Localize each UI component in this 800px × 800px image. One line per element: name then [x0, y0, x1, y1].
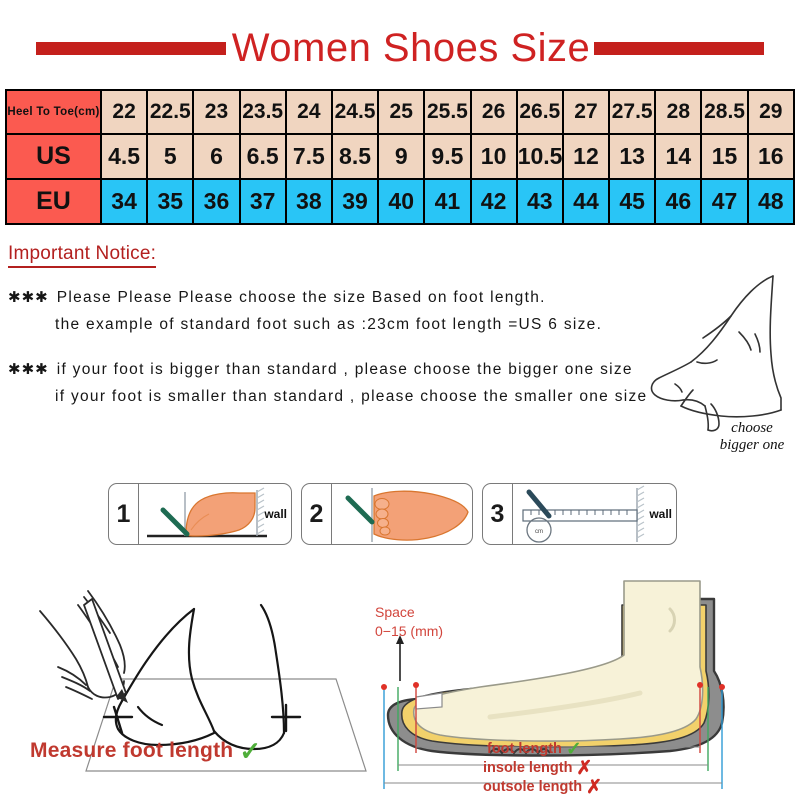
- notice-line-3: ✱✱✱if your foot is bigger than standard …: [8, 356, 708, 383]
- size-chart-table: Heel To Toe(cm) 22 22.5 23 23.5 24 24.5 …: [5, 89, 795, 225]
- table-row-us: US 4.5 5 6 6.5 7.5 8.5 9 9.5 10 10.5 12 …: [6, 134, 794, 179]
- cell-us-2: 6: [193, 134, 239, 179]
- cell-heel-9: 26.5: [517, 90, 563, 134]
- space-label-line1: Space: [375, 603, 443, 622]
- cell-eu-4: 38: [286, 179, 332, 224]
- notice-text-3: if your foot is bigger than standard , p…: [57, 361, 633, 378]
- cell-heel-7: 25.5: [424, 90, 470, 134]
- cell-eu-12: 46: [655, 179, 701, 224]
- cell-us-4: 7.5: [286, 134, 332, 179]
- table-row-heel-to-toe: Heel To Toe(cm) 22 22.5 23 23.5 24 24.5 …: [6, 90, 794, 134]
- cell-us-5: 8.5: [332, 134, 378, 179]
- check-icon: ✓: [239, 738, 261, 764]
- title-rule-left: [36, 42, 226, 55]
- cell-us-8: 10: [471, 134, 517, 179]
- measurement-steps: 1 wall: [108, 483, 677, 545]
- cell-eu-7: 41: [424, 179, 470, 224]
- cell-us-1: 5: [147, 134, 193, 179]
- asterisk-icon-2: ✱✱✱: [8, 361, 49, 378]
- legend-foot-length: foot length ✓: [483, 740, 602, 759]
- foot-top-view-icon: [332, 484, 472, 545]
- cell-eu-2: 36: [193, 179, 239, 224]
- cell-eu-11: 45: [609, 179, 655, 224]
- legend-outsole-length-text: outsole length: [483, 778, 582, 797]
- notice-line-2: the example of standard foot such as :23…: [8, 311, 708, 338]
- legend-outsole-length: outsole length ✗: [483, 778, 602, 797]
- choose-bigger-line1: choose: [697, 420, 800, 437]
- foot-profile-sketch-icon: [645, 258, 795, 438]
- cell-us-9: 10.5: [517, 134, 563, 179]
- cell-eu-3: 37: [240, 179, 286, 224]
- step-1-illustration: wall: [139, 484, 291, 544]
- notice-line-1: ✱✱✱Please Please Please choose the size …: [8, 284, 708, 311]
- cell-us-10: 12: [563, 134, 609, 179]
- cell-us-0: 4.5: [101, 134, 147, 179]
- cell-heel-2: 23: [193, 90, 239, 134]
- notice-line-4: if your foot is smaller than standard , …: [8, 383, 708, 410]
- cell-eu-0: 34: [101, 179, 147, 224]
- legend-insole-length-text: insole length: [483, 759, 572, 778]
- cell-heel-8: 26: [471, 90, 517, 134]
- choose-bigger-caption: choose bigger one: [697, 420, 800, 454]
- cell-heel-12: 28: [655, 90, 701, 134]
- space-annotation: Space 0−15 (mm): [375, 603, 443, 641]
- row-label-us: US: [6, 134, 101, 179]
- cell-heel-4: 24: [286, 90, 332, 134]
- cell-heel-6: 25: [378, 90, 424, 134]
- cell-eu-14: 48: [748, 179, 794, 224]
- important-notice-section: Important Notice: ✱✱✱Please Please Pleas…: [8, 243, 708, 410]
- asterisk-icon: ✱✱✱: [8, 289, 49, 306]
- title-rule-right: [594, 42, 764, 55]
- cell-heel-11: 27.5: [609, 90, 655, 134]
- step-panel-3: 3: [482, 483, 677, 545]
- step-panel-1: 1 wall: [108, 483, 292, 545]
- table-row-eu: EU 34 35 36 37 38 39 40 41 42 43 44 45 4…: [6, 179, 794, 224]
- cell-eu-13: 47: [701, 179, 747, 224]
- check-icon-foot: ✓: [566, 740, 582, 759]
- legend-foot-length-text: foot length: [487, 740, 562, 759]
- step-3-illustration: cm wall: [513, 484, 676, 544]
- cross-icon-outsole: ✗: [586, 778, 602, 797]
- row-label-eu: EU: [6, 179, 101, 224]
- cross-icon-insole: ✗: [576, 759, 592, 778]
- step-number-3: 3: [483, 484, 513, 544]
- cell-heel-0: 22: [101, 90, 147, 134]
- notice-text-1: Please Please Please choose the size Bas…: [57, 289, 546, 306]
- row-label-heel-to-toe: Heel To Toe(cm): [6, 90, 101, 134]
- notice-heading: Important Notice:: [8, 243, 156, 268]
- space-label-line2: 0−15 (mm): [375, 622, 443, 641]
- cell-eu-5: 39: [332, 179, 378, 224]
- cell-us-6: 9: [378, 134, 424, 179]
- cell-us-12: 14: [655, 134, 701, 179]
- page-title: Women Shoes Size: [232, 26, 591, 71]
- legend-insole-length: insole length ✗: [483, 759, 602, 778]
- cell-heel-3: 23.5: [240, 90, 286, 134]
- page-title-bar: Women Shoes Size: [0, 18, 800, 78]
- cell-eu-9: 43: [517, 179, 563, 224]
- wall-label-3: wall: [649, 507, 672, 521]
- cell-eu-1: 35: [147, 179, 193, 224]
- cell-us-14: 16: [748, 134, 794, 179]
- cell-eu-10: 44: [563, 179, 609, 224]
- step-panel-2: 2: [301, 483, 473, 545]
- cell-us-7: 9.5: [424, 134, 470, 179]
- cell-us-13: 15: [701, 134, 747, 179]
- cell-us-3: 6.5: [240, 134, 286, 179]
- cell-us-11: 13: [609, 134, 655, 179]
- cell-eu-8: 42: [471, 179, 517, 224]
- size-chart-body: Heel To Toe(cm) 22 22.5 23 23.5 24 24.5 …: [6, 90, 794, 224]
- notice-block-1: ✱✱✱Please Please Please choose the size …: [8, 284, 708, 338]
- cell-heel-5: 24.5: [332, 90, 378, 134]
- length-legend: foot length ✓ insole length ✗ outsole le…: [483, 740, 602, 797]
- ruler-badge-text: cm: [535, 529, 543, 535]
- choose-bigger-line2: bigger one: [697, 437, 800, 454]
- cell-heel-1: 22.5: [147, 90, 193, 134]
- measure-foot-length-text: Measure foot length: [30, 739, 233, 763]
- cell-heel-10: 27: [563, 90, 609, 134]
- measure-foot-length-label: Measure foot length ✓: [30, 738, 261, 764]
- cell-heel-13: 28.5: [701, 90, 747, 134]
- step-number-1: 1: [109, 484, 139, 544]
- step-number-2: 2: [302, 484, 332, 544]
- cell-eu-6: 40: [378, 179, 424, 224]
- wall-label-1: wall: [264, 507, 287, 521]
- cell-heel-14: 29: [748, 90, 794, 134]
- step-2-illustration: [332, 484, 472, 544]
- notice-block-2: ✱✱✱if your foot is bigger than standard …: [8, 356, 708, 410]
